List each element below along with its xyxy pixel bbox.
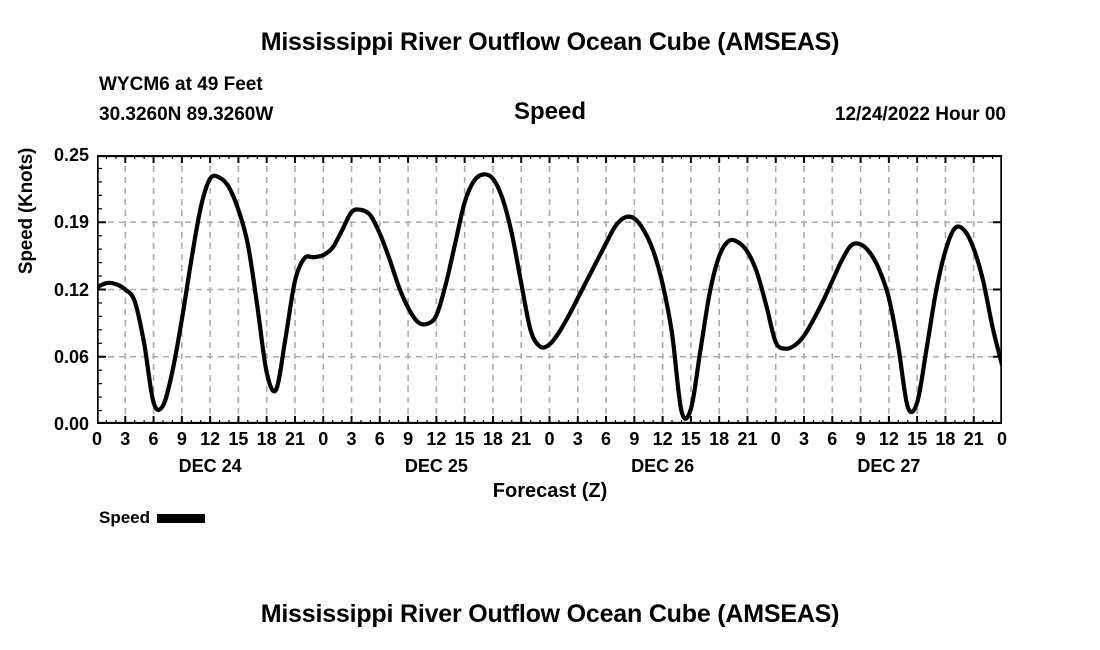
y-tick-label: 0.06 xyxy=(35,348,89,366)
x-tick-label: 15 xyxy=(907,429,927,450)
x-axis-day-label: DEC 25 xyxy=(405,456,468,477)
x-tick-label: 6 xyxy=(375,429,385,450)
x-tick-label: 3 xyxy=(573,429,583,450)
plot-area xyxy=(97,155,1002,424)
model-run-timestamp: 12/24/2022 Hour 00 xyxy=(835,104,1006,126)
speed-line-chart xyxy=(97,155,1002,424)
x-tick-label: 18 xyxy=(709,429,729,450)
x-tick-label: 6 xyxy=(827,429,837,450)
chart-page: Mississippi River Outflow Ocean Cube (AM… xyxy=(0,0,1100,650)
x-tick-label: 0 xyxy=(544,429,554,450)
x-tick-label: 9 xyxy=(629,429,639,450)
legend-swatch-speed xyxy=(157,514,205,523)
x-tick-label: 21 xyxy=(285,429,305,450)
x-axis-day-label: DEC 27 xyxy=(857,456,920,477)
x-tick-label: 6 xyxy=(149,429,159,450)
y-tick-label: 0.12 xyxy=(35,281,89,299)
x-tick-label: 18 xyxy=(935,429,955,450)
x-tick-label: 9 xyxy=(177,429,187,450)
x-tick-label: 3 xyxy=(347,429,357,450)
x-tick-label: 6 xyxy=(601,429,611,450)
x-tick-label: 0 xyxy=(92,429,102,450)
x-axis-day-label: DEC 24 xyxy=(179,456,242,477)
y-tick-label: 0.00 xyxy=(35,415,89,433)
y-tick-label: 0.25 xyxy=(35,146,89,164)
x-tick-label: 3 xyxy=(799,429,809,450)
x-tick-label: 18 xyxy=(483,429,503,450)
x-tick-label: 15 xyxy=(681,429,701,450)
x-tick-label: 18 xyxy=(257,429,277,450)
x-tick-label: 9 xyxy=(856,429,866,450)
x-tick-label: 12 xyxy=(879,429,899,450)
x-axis-day-label: DEC 26 xyxy=(631,456,694,477)
x-tick-label: 0 xyxy=(997,429,1007,450)
bottom-title: Mississippi River Outflow Ocean Cube (AM… xyxy=(0,600,1100,629)
x-axis-title: Forecast (Z) xyxy=(0,480,1100,503)
x-tick-label: 3 xyxy=(120,429,130,450)
x-tick-label: 0 xyxy=(771,429,781,450)
x-tick-label: 21 xyxy=(964,429,984,450)
x-tick-label: 21 xyxy=(511,429,531,450)
x-tick-label: 15 xyxy=(228,429,248,450)
x-tick-label: 15 xyxy=(455,429,475,450)
main-title: Mississippi River Outflow Ocean Cube (AM… xyxy=(0,28,1100,57)
legend-label-speed: Speed xyxy=(99,508,150,528)
y-tick-label: 0.19 xyxy=(35,213,89,231)
x-tick-label: 12 xyxy=(426,429,446,450)
station-name-depth: WYCM6 at 49 Feet xyxy=(99,74,263,96)
y-axis-tick-labels: 0.000.060.120.190.25 xyxy=(33,155,89,424)
x-tick-label: 12 xyxy=(200,429,220,450)
x-tick-label: 9 xyxy=(403,429,413,450)
x-tick-label: 0 xyxy=(318,429,328,450)
legend: Speed xyxy=(99,508,205,528)
x-tick-label: 12 xyxy=(653,429,673,450)
x-tick-label: 21 xyxy=(737,429,757,450)
